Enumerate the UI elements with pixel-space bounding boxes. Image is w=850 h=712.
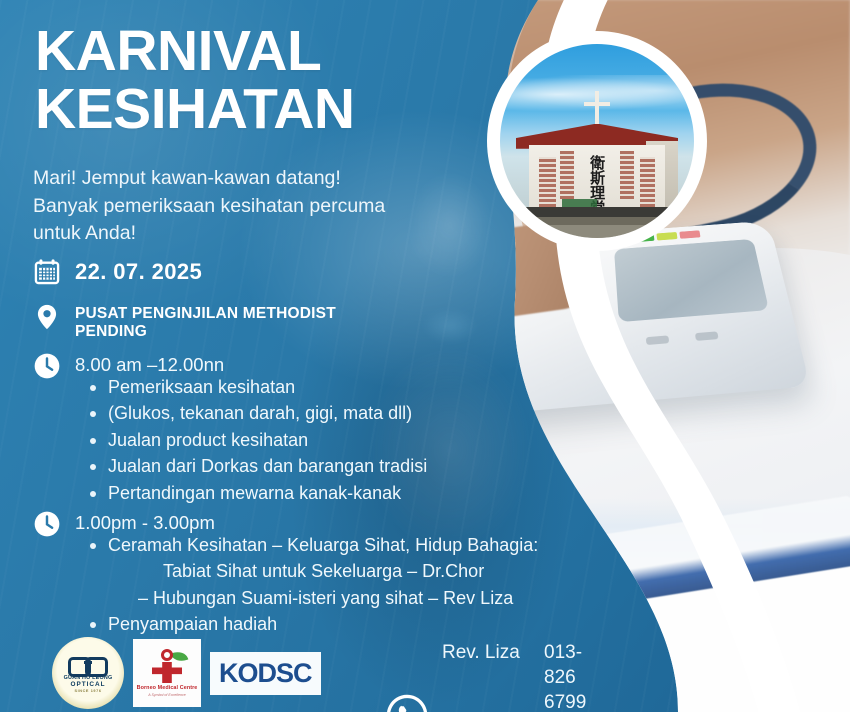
- list-item: Pertandingan mewarna kanak-kanak: [88, 480, 427, 506]
- list-item: Penyampaian hadiah: [88, 611, 538, 637]
- kodsc-k: K: [219, 658, 238, 688]
- location-pin-icon: [33, 303, 61, 331]
- logo-tagline: A Symbol of Excellence: [148, 693, 186, 697]
- contact-entry: Rev. Liza 013-826 6799: [442, 640, 591, 712]
- event-date-row: 22. 07. 2025: [33, 258, 202, 286]
- subtitle-line-3: untuk Anda!: [33, 220, 385, 248]
- kodsc-o: O: [238, 658, 258, 688]
- subtitle-line-1: Mari! Jemput kawan-kawan datang!: [33, 165, 385, 193]
- subtitle-line-2: Banyak pemeriksaan kesihatan percuma: [33, 193, 385, 221]
- glasses-icon: [68, 657, 108, 672]
- list-item: (Glukos, tekanan darah, gigi, mata dll): [88, 400, 427, 426]
- clock-icon: [33, 510, 61, 538]
- list-item: Ceramah Kesihatan – Keluarga Sihat, Hidu…: [88, 532, 538, 558]
- session-1-time: 8.00 am –12.00nn: [75, 352, 224, 376]
- brick-panel: [640, 157, 656, 207]
- event-location: PUSAT PENGINJILAN METHODIST PENDING: [75, 303, 336, 342]
- location-line-1: PUSAT PENGINJILAN METHODIST: [75, 305, 336, 323]
- list-item: Jualan product kesihatan: [88, 427, 427, 453]
- list-item: Pemeriksaan kesihatan: [88, 374, 427, 400]
- logo-borneo-medical-centre: Borneo Medical Centre A Symbol of Excell…: [133, 639, 201, 707]
- sponsor-logos: GUAN HO LEONG OPTICAL SINCE 1976 Borneo …: [52, 637, 321, 709]
- title-line-1: KARNIVAL: [35, 22, 355, 80]
- brick-panel: [620, 151, 634, 200]
- calendar-icon: [33, 258, 61, 286]
- logo-guan-ho-leong-optical: GUAN HO LEONG OPTICAL SINCE 1976: [52, 637, 124, 709]
- medical-cross-icon: [150, 649, 184, 683]
- event-date: 22. 07. 2025: [75, 258, 202, 285]
- title-line-2: KESIHATAN: [35, 80, 355, 138]
- logo-text: SINCE 1976: [74, 689, 101, 693]
- porch-sign: [562, 199, 597, 207]
- contact-name: Rev. Liza: [442, 640, 528, 712]
- subtitle: Mari! Jemput kawan-kawan datang! Banyak …: [33, 165, 385, 248]
- page-title: KARNIVAL KESIHATAN: [35, 22, 355, 138]
- session-1-items: Pemeriksaan kesihatan (Glukos, tekanan d…: [88, 374, 427, 506]
- kodsc-dsc: DSC: [258, 658, 312, 688]
- clock-icon: [33, 352, 61, 380]
- phone-icon[interactable]: [386, 694, 428, 712]
- list-item: Jualan dari Dorkas dan barangan tradisi: [88, 453, 427, 479]
- logo-text: KODSC: [219, 658, 312, 689]
- logo-text: Borneo Medical Centre: [137, 685, 198, 691]
- list-item-sub: – Hubungan Suami-isteri yang sihat – Rev…: [118, 585, 538, 611]
- event-location-row: PUSAT PENGINJILAN METHODIST PENDING: [33, 303, 336, 342]
- contact-number[interactable]: 013-826 6799: [544, 640, 591, 712]
- list-item-sub: Tabiat Sihat untuk Sekeluarga – Dr.Chor: [143, 558, 538, 584]
- logo-kodsc: KODSC: [210, 652, 321, 695]
- poster-canvas: 衛斯理堂 KARNIVAL KESIHATAN Mari! Jemput kaw…: [0, 0, 850, 712]
- session-2-items: Ceramah Kesihatan – Keluarga Sihat, Hidu…: [88, 532, 538, 638]
- device-screen: [614, 239, 769, 322]
- brick-panel: [560, 151, 574, 200]
- contact-block: Rev. Liza 013-826 6799 Sengalang 010-973…: [386, 640, 591, 712]
- device-buttons: [596, 331, 718, 349]
- contact-list: Rev. Liza 013-826 6799 Sengalang 010-973…: [442, 640, 591, 712]
- session-2-time: 1.00pm - 3.00pm: [75, 510, 215, 534]
- location-line-2: PENDING: [75, 323, 336, 341]
- logo-text: OPTICAL: [70, 681, 105, 688]
- poster-content: KARNIVAL KESIHATAN Mari! Jemput kawan-ka…: [0, 0, 560, 712]
